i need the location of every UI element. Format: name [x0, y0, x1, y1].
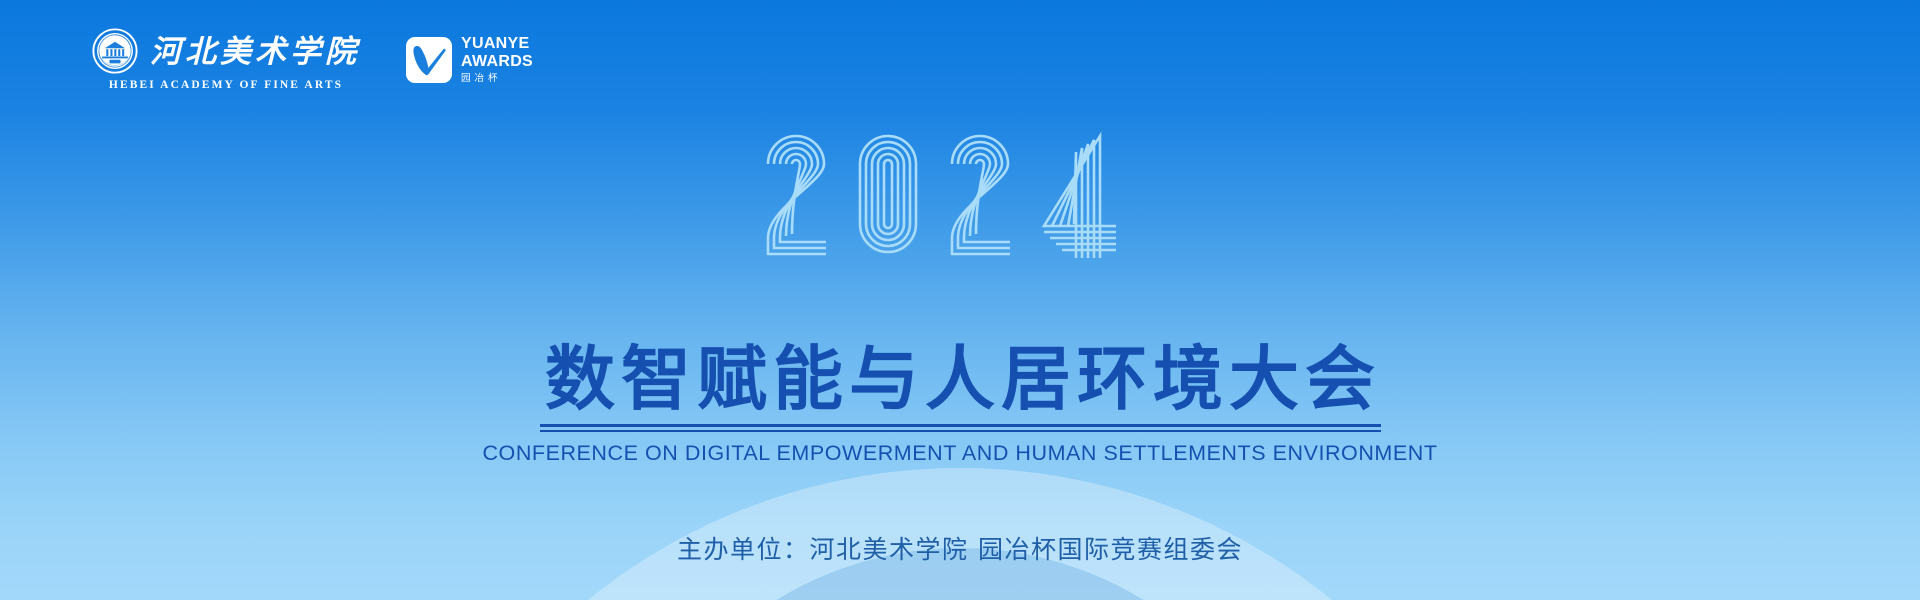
- hebei-logo-name-en: HEBEI ACADEMY OF FINE ARTS: [109, 79, 343, 91]
- year-graphic: [0, 128, 1920, 268]
- yuanye-awards-mark-icon: [406, 37, 452, 83]
- yuanye-awards-logo: YUANYE AWARDS 园冶杯: [406, 36, 533, 84]
- yuanye-name-cn: 园冶杯: [461, 74, 533, 84]
- divider-line-thin: [540, 430, 1381, 432]
- title-block: 数智赋能与人居环境大会 CONFERENCE ON DIGITAL EMPOWE…: [0, 340, 1920, 466]
- yuanye-mark-glyph: [406, 37, 452, 83]
- conference-title-en: CONFERENCE ON DIGITAL EMPOWERMENT AND HU…: [482, 441, 1437, 466]
- conference-banner: 河北美术学院 HEBEI ACADEMY OF FINE ARTS YUANYE…: [0, 0, 1920, 600]
- yuanye-line2: AWARDS: [461, 54, 533, 70]
- logo-row: 河北美术学院 HEBEI ACADEMY OF FINE ARTS YUANYE…: [92, 28, 533, 91]
- hebei-academy-seal-icon: [92, 28, 138, 74]
- conference-title-cn: 数智赋能与人居环境大会: [539, 340, 1381, 418]
- divider-line-thick: [540, 424, 1381, 427]
- hebei-logo-name-cn: 河北美术学院: [150, 36, 360, 67]
- hebei-academy-logo: 河北美术学院 HEBEI ACADEMY OF FINE ARTS: [92, 28, 360, 91]
- yuanye-line1: YUANYE: [461, 36, 533, 52]
- organizer-line: 主办单位：河北美术学院 园冶杯国际竞赛组委会: [0, 530, 1920, 566]
- hebei-logo-top: 河北美术学院: [92, 28, 360, 74]
- title-divider: [540, 424, 1381, 432]
- year-2024-icon: [760, 128, 1160, 268]
- yuanye-text-block: YUANYE AWARDS 园冶杯: [461, 36, 533, 84]
